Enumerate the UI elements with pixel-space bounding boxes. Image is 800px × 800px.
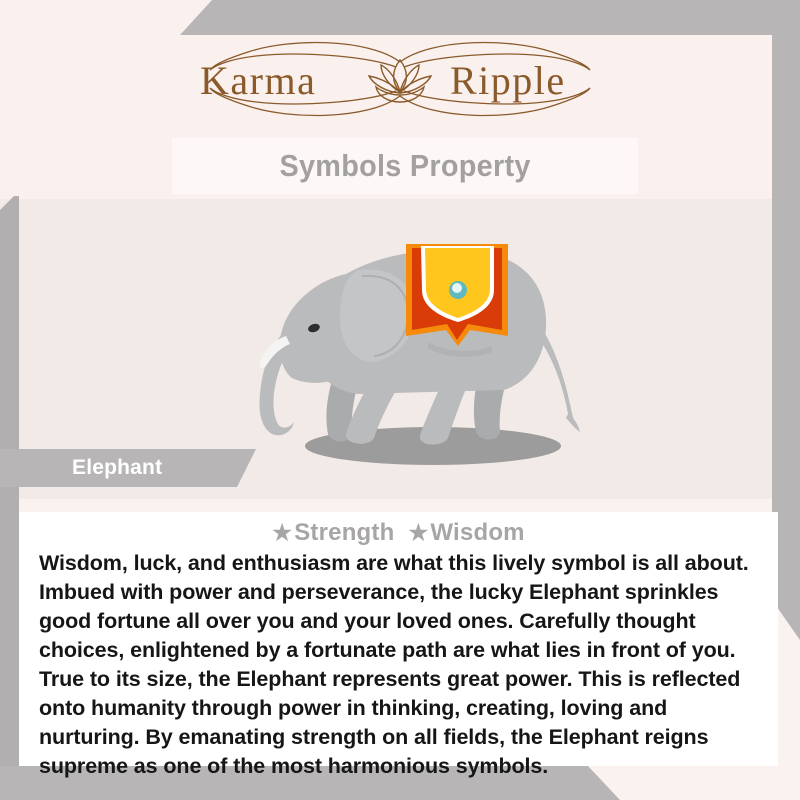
elephant-tail-tuft — [566, 414, 580, 432]
trait-strength-label: Strength — [294, 519, 394, 546]
brand-logo-svg: Karma Ripple — [170, 34, 630, 126]
page-title-band: Symbols Property — [172, 138, 638, 194]
star-icon: ★ — [272, 520, 292, 545]
elephant-tail — [540, 332, 578, 427]
brand-logo: Karma Ripple — [0, 34, 800, 126]
trait-wisdom-label: Wisdom — [430, 519, 524, 546]
trait-wisdom: ★Wisdom — [408, 519, 524, 546]
symbol-name: Elephant — [72, 456, 162, 480]
page-title: Symbols Property — [279, 148, 530, 184]
symbol-name-banner: Elephant — [0, 449, 256, 487]
trait-strength: ★Strength — [272, 519, 394, 546]
brand-name-right: Ripple — [450, 58, 566, 103]
symbol-traits: ★Strength★Wisdom — [19, 512, 778, 547]
brand-name-left: Karma — [200, 58, 316, 103]
saddle-gem-highlight — [452, 283, 462, 293]
elephant-saddle — [406, 244, 508, 346]
elephant-illustration — [228, 218, 628, 478]
elephant-svg — [228, 218, 628, 478]
symbol-info-card: Karma Ripple Symbols Property — [0, 0, 800, 800]
symbol-description-panel: ★Strength★Wisdom Wisdom, luck, and enthu… — [19, 512, 778, 766]
symbol-description-text: Wisdom, luck, and enthusiasm are what th… — [19, 549, 778, 781]
star-icon: ★ — [408, 520, 428, 545]
decorative-left-bar — [0, 196, 19, 800]
